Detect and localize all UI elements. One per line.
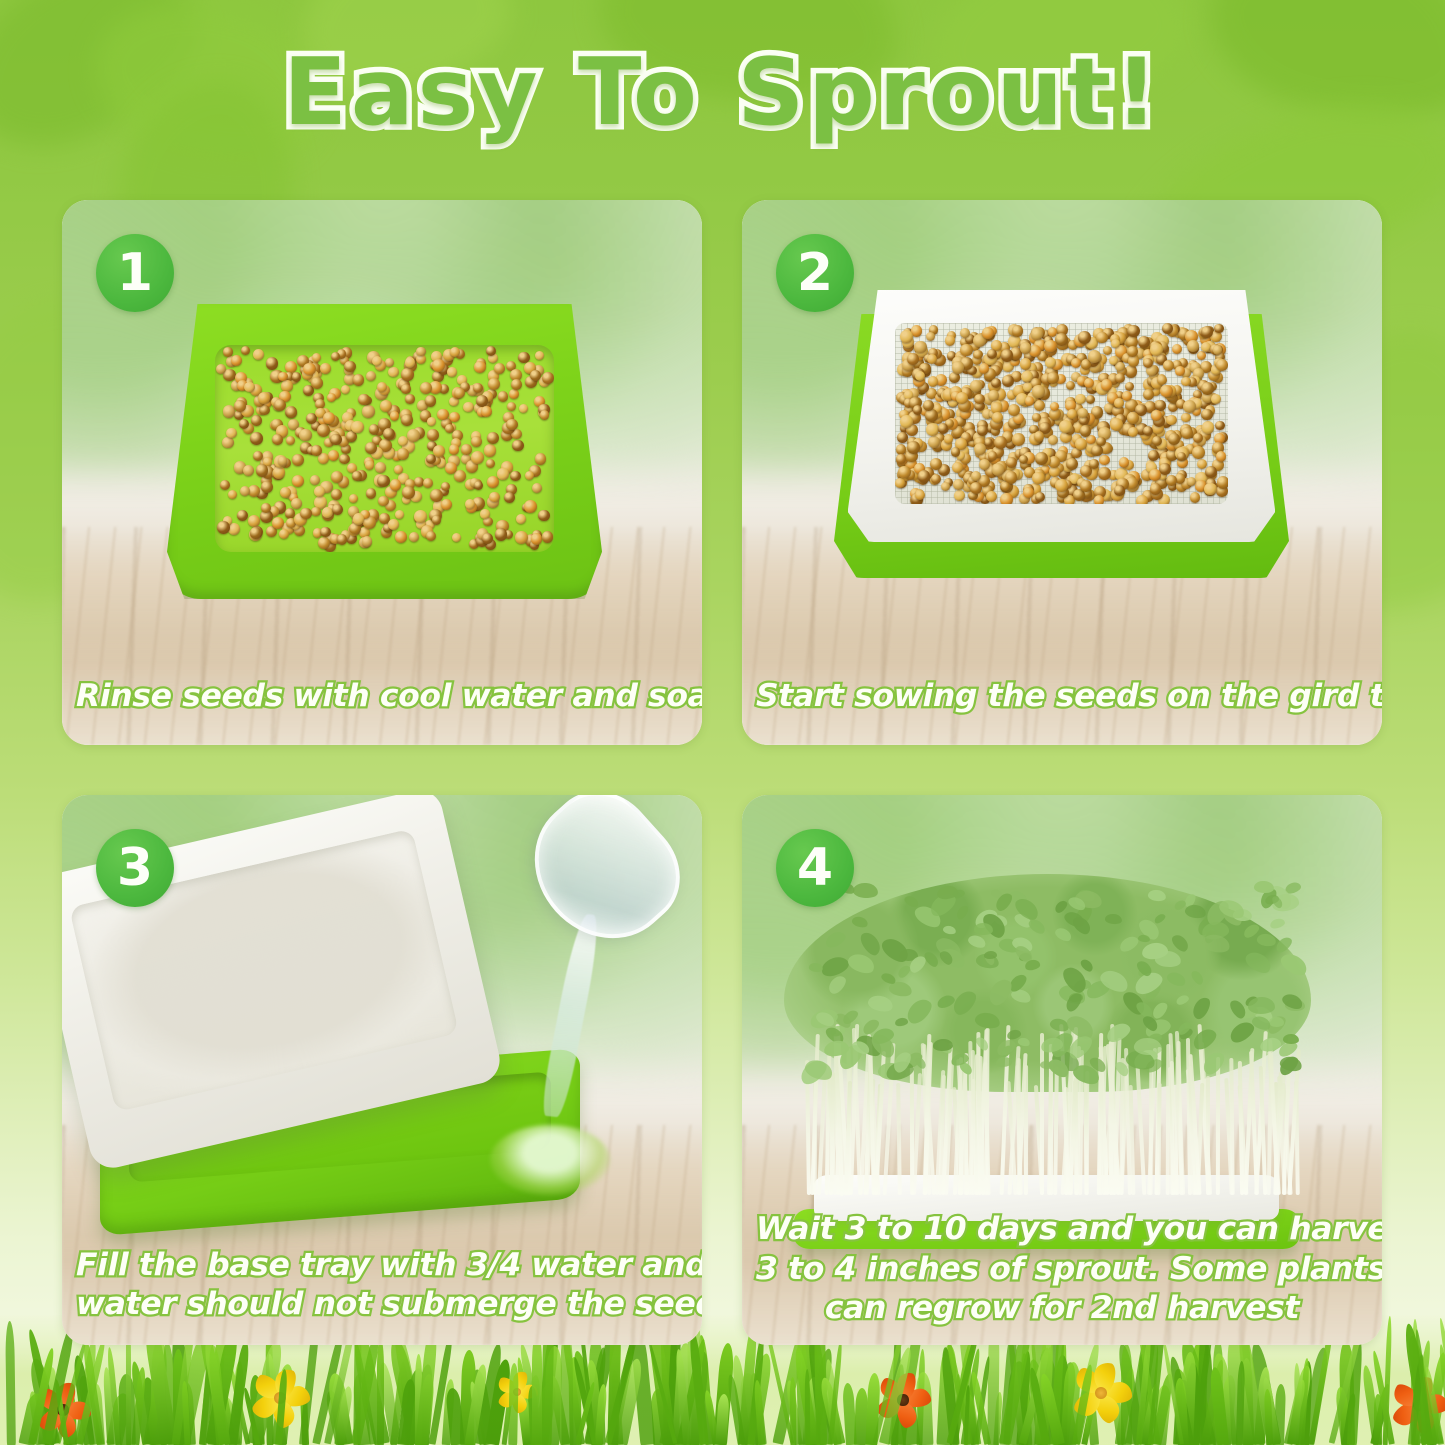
step-card-1: 1 Rinse seeds with cool water and soak xyxy=(62,200,702,745)
seed xyxy=(312,353,321,362)
seed xyxy=(405,357,415,367)
seed xyxy=(484,444,497,457)
seed xyxy=(445,462,457,474)
caption-line: Fill the base tray with 3/4 water and th… xyxy=(76,1246,688,1286)
seed xyxy=(450,347,460,357)
seed xyxy=(286,407,297,418)
seed xyxy=(900,330,913,343)
seed xyxy=(409,532,420,543)
seed xyxy=(504,492,515,503)
seed xyxy=(454,470,466,482)
seed xyxy=(377,475,389,487)
seed xyxy=(328,450,339,461)
sprout-stem xyxy=(1083,1082,1088,1195)
seed xyxy=(542,531,554,543)
seed xyxy=(538,510,549,521)
seed xyxy=(299,429,312,442)
seed xyxy=(278,372,287,381)
seed xyxy=(311,377,323,389)
seed xyxy=(1159,463,1171,475)
seed xyxy=(944,434,954,444)
sprout-leaf xyxy=(1283,1033,1300,1044)
seed xyxy=(915,490,925,500)
seed xyxy=(331,489,342,500)
seed xyxy=(1128,355,1140,367)
seed xyxy=(498,391,508,401)
seed xyxy=(977,425,988,436)
seed xyxy=(535,453,547,465)
seed xyxy=(402,486,414,498)
seed xyxy=(1181,413,1191,423)
seed xyxy=(1136,495,1148,504)
sprout-stem xyxy=(1024,1065,1028,1195)
seed xyxy=(979,363,989,373)
seed xyxy=(973,350,982,359)
seed xyxy=(1066,381,1075,390)
grass-blade xyxy=(377,1338,384,1445)
seed xyxy=(951,447,960,456)
seed xyxy=(1181,427,1193,439)
seed xyxy=(1078,331,1091,344)
seed xyxy=(535,351,544,360)
seed xyxy=(395,510,404,519)
seed xyxy=(447,367,457,377)
white-grid-tray xyxy=(834,290,1289,590)
seed xyxy=(285,361,297,373)
seed xyxy=(494,363,505,374)
grass-blade xyxy=(804,1368,809,1445)
seed xyxy=(497,468,508,479)
seed xyxy=(486,346,497,357)
seed xyxy=(1019,455,1028,464)
seed xyxy=(1035,452,1048,465)
seed xyxy=(426,454,436,464)
microgreens-cluster xyxy=(790,880,1305,1195)
seed xyxy=(926,332,935,341)
seed xyxy=(913,405,922,414)
seed xyxy=(512,440,524,452)
seed xyxy=(240,486,250,496)
seed xyxy=(352,471,361,480)
sprout-stem xyxy=(1215,1057,1219,1195)
seed xyxy=(1025,396,1034,405)
step-caption-1: Rinse seeds with cool water and soak xyxy=(62,677,702,717)
seed xyxy=(279,529,290,540)
seed xyxy=(954,490,965,501)
seed xyxy=(988,451,997,460)
seed xyxy=(405,394,414,403)
seed xyxy=(278,456,287,465)
seed xyxy=(1127,325,1139,337)
seed xyxy=(281,380,293,392)
seed xyxy=(449,444,459,454)
seed xyxy=(488,378,500,390)
seed xyxy=(970,482,982,494)
seed xyxy=(471,436,482,447)
grass-blade xyxy=(561,1330,574,1445)
sprout-stem xyxy=(1206,1076,1210,1195)
seed xyxy=(461,444,471,454)
sprout-leaf xyxy=(1269,917,1286,930)
seed xyxy=(273,466,286,479)
seed xyxy=(974,443,986,455)
seed xyxy=(1080,480,1092,492)
seed xyxy=(362,405,375,418)
seed xyxy=(952,462,963,473)
seed xyxy=(1035,492,1045,502)
seed xyxy=(1211,394,1221,404)
seed xyxy=(441,482,450,491)
seed xyxy=(377,382,387,392)
seed xyxy=(261,481,273,493)
seed xyxy=(928,376,939,387)
seed xyxy=(1099,455,1110,466)
seed xyxy=(362,536,372,546)
seed xyxy=(256,464,268,476)
seed xyxy=(495,528,508,541)
step-card-3: 3 Fill the base tray with 3/4 water and … xyxy=(62,795,702,1345)
seed xyxy=(507,402,516,411)
seed xyxy=(923,400,934,411)
step-badge-3: 3 xyxy=(96,829,174,907)
seed xyxy=(480,509,490,519)
seed xyxy=(925,409,938,422)
seed xyxy=(1128,427,1138,437)
seed xyxy=(895,478,905,488)
sprout-stem xyxy=(910,1066,914,1195)
sprout-leaf xyxy=(996,1056,1012,1067)
seed xyxy=(397,448,409,460)
seed xyxy=(1175,366,1184,375)
seed xyxy=(237,510,248,521)
seed xyxy=(332,504,343,515)
seed xyxy=(1091,445,1102,456)
seed xyxy=(1125,382,1135,392)
seed xyxy=(987,349,997,359)
seed xyxy=(390,479,401,490)
seed xyxy=(532,483,542,493)
seed xyxy=(1045,357,1056,368)
seed xyxy=(1096,332,1108,344)
seed xyxy=(310,475,321,486)
seed xyxy=(272,434,283,445)
seed xyxy=(1023,487,1034,498)
seed xyxy=(292,454,304,466)
tray-white-insert xyxy=(848,290,1276,542)
seed xyxy=(1150,483,1161,494)
seed xyxy=(1148,450,1160,462)
seed xyxy=(487,432,499,444)
seed xyxy=(427,417,436,426)
seed xyxy=(1122,391,1131,400)
seed xyxy=(1162,323,1173,334)
seed xyxy=(234,400,246,412)
seed xyxy=(486,459,495,468)
seed xyxy=(425,395,436,406)
seed xyxy=(524,500,537,513)
seed xyxy=(353,374,364,385)
seed xyxy=(266,357,278,369)
seed xyxy=(1187,340,1199,352)
seed xyxy=(907,441,920,454)
step-caption-2: Start sowing the seeds on the gird tray xyxy=(742,677,1382,717)
caption-line: Start sowing the seeds on the gird tray xyxy=(756,677,1368,717)
seed xyxy=(907,353,919,365)
seed xyxy=(401,414,413,426)
seed xyxy=(1098,467,1111,480)
seed xyxy=(1204,483,1216,495)
sprout-stem xyxy=(1040,1033,1044,1195)
seed xyxy=(327,393,336,402)
seed xyxy=(228,490,237,499)
seed xyxy=(519,404,528,413)
seed xyxy=(931,474,941,484)
seed xyxy=(253,349,264,360)
seed xyxy=(1075,394,1086,405)
seed xyxy=(463,402,473,412)
seed xyxy=(489,492,499,502)
seed xyxy=(222,437,233,448)
seed xyxy=(1032,385,1044,397)
seed xyxy=(430,489,443,502)
grass-blade xyxy=(5,1321,16,1445)
seed xyxy=(300,508,311,519)
seed xyxy=(1050,402,1059,411)
seed xyxy=(398,436,408,446)
seed xyxy=(1020,358,1032,370)
seed xyxy=(531,533,542,544)
seed xyxy=(465,499,475,509)
seed xyxy=(1213,345,1222,354)
seed xyxy=(1172,344,1182,354)
seed xyxy=(339,454,350,465)
seed xyxy=(1166,475,1177,486)
seed xyxy=(1157,375,1167,385)
seed xyxy=(1187,477,1196,486)
seed xyxy=(1160,385,1173,398)
sprout-stem xyxy=(1156,1083,1161,1195)
seed xyxy=(1034,431,1045,442)
seed xyxy=(938,423,948,433)
seed xyxy=(274,399,287,412)
seed xyxy=(241,346,250,355)
seed xyxy=(217,521,230,534)
seed xyxy=(1201,382,1214,395)
seed xyxy=(353,513,365,525)
grid-mesh xyxy=(895,323,1229,504)
seed xyxy=(474,361,486,373)
seed xyxy=(1216,359,1228,371)
seed-cluster xyxy=(215,345,554,552)
seed xyxy=(1183,400,1196,413)
seed xyxy=(344,361,356,373)
seed xyxy=(897,432,908,443)
seed xyxy=(311,507,321,517)
seed xyxy=(223,405,235,417)
seed xyxy=(244,382,254,392)
seed xyxy=(1114,485,1124,495)
seed xyxy=(1023,382,1033,392)
seed xyxy=(317,424,330,437)
tray-well xyxy=(215,345,554,552)
seed xyxy=(394,465,403,474)
seed xyxy=(1012,325,1023,336)
seed xyxy=(272,517,284,529)
seed xyxy=(1066,458,1078,470)
seed xyxy=(220,480,230,490)
infographic-page: Easy To Sprout! 1 Rinse seeds with cool … xyxy=(0,0,1445,1445)
seed xyxy=(1202,421,1215,434)
step-card-2: 2 Start sowing the seeds on the gird tra… xyxy=(742,200,1382,745)
seed xyxy=(986,491,997,502)
seed xyxy=(1149,469,1161,481)
seed xyxy=(941,482,950,491)
page-title: Easy To Sprout! xyxy=(283,38,1161,146)
seed xyxy=(1080,425,1091,436)
seed xyxy=(1021,371,1033,383)
seed xyxy=(378,496,389,507)
seed xyxy=(1059,420,1072,433)
seed xyxy=(1215,421,1224,430)
seed xyxy=(286,436,295,445)
seed xyxy=(1055,479,1068,492)
seed xyxy=(1096,437,1106,447)
seed xyxy=(243,465,254,476)
seed xyxy=(1110,418,1123,431)
step-badge-1: 1 xyxy=(96,234,174,312)
seed xyxy=(542,372,554,384)
seed xyxy=(1032,472,1044,484)
seed xyxy=(471,451,484,464)
steps-grid: 1 Rinse seeds with cool water and soak 2… xyxy=(62,200,1382,1345)
sprout-stem xyxy=(1073,1078,1077,1195)
grass-blade xyxy=(508,1363,518,1445)
seed xyxy=(426,531,436,541)
seed xyxy=(1075,438,1087,450)
seed xyxy=(914,341,927,354)
caption-line: 3 to 4 inches of sprout. Some plants xyxy=(756,1250,1368,1290)
seed xyxy=(388,519,399,530)
seed xyxy=(1044,340,1056,352)
seed xyxy=(248,515,260,527)
step-caption-4: Wait 3 to 10 days and you can harvest 3 … xyxy=(742,1210,1382,1329)
seed xyxy=(311,445,321,455)
step-badge-2: 2 xyxy=(776,234,854,312)
seed xyxy=(366,371,376,381)
seed xyxy=(423,478,433,488)
seed xyxy=(1217,476,1229,488)
green-soak-tray xyxy=(167,304,602,599)
page-title-container: Easy To Sprout! xyxy=(0,38,1445,146)
seed xyxy=(1216,451,1227,462)
step-badge-4: 4 xyxy=(776,829,854,907)
seed xyxy=(407,429,420,442)
seed xyxy=(1197,351,1206,360)
seed xyxy=(511,379,523,391)
seed xyxy=(351,421,363,433)
seed xyxy=(432,359,445,372)
seed xyxy=(1103,346,1112,355)
seed xyxy=(540,410,549,419)
seed xyxy=(525,471,535,481)
sprout-stem xyxy=(1259,1066,1268,1195)
seed xyxy=(516,514,526,524)
seed xyxy=(331,471,343,483)
sprout-leaf xyxy=(933,1039,953,1051)
seed-cluster xyxy=(895,323,1229,504)
seed xyxy=(420,382,432,394)
seed xyxy=(1001,349,1013,361)
seed xyxy=(341,385,350,394)
seed xyxy=(250,527,261,538)
seed xyxy=(365,460,375,470)
seed xyxy=(1000,493,1013,504)
seed xyxy=(390,411,400,421)
seed xyxy=(358,394,369,405)
grass-blade xyxy=(532,1333,543,1445)
seed xyxy=(320,527,330,537)
seed xyxy=(401,384,411,394)
seed xyxy=(945,335,955,345)
seed xyxy=(1150,343,1163,356)
seed xyxy=(454,388,465,399)
seed xyxy=(388,367,398,377)
seed xyxy=(1163,360,1174,371)
caption-line: Rinse seeds with cool water and soak xyxy=(76,677,688,717)
seed xyxy=(970,380,982,392)
seed xyxy=(223,347,233,357)
seed xyxy=(372,356,382,366)
seed xyxy=(960,344,973,357)
seed xyxy=(1214,324,1224,334)
seed xyxy=(337,534,348,545)
sprout-stem xyxy=(896,1083,902,1195)
seed xyxy=(1127,412,1139,424)
seed xyxy=(896,454,906,464)
seed xyxy=(216,364,226,374)
seed xyxy=(375,462,386,473)
seed xyxy=(1086,395,1095,404)
seed xyxy=(1020,342,1031,353)
seed xyxy=(427,429,439,441)
seed xyxy=(1094,495,1105,504)
seed xyxy=(292,372,302,382)
seed xyxy=(231,355,242,366)
seed xyxy=(1119,457,1130,468)
seed xyxy=(1012,433,1025,446)
seed xyxy=(349,494,358,503)
seed xyxy=(1048,435,1058,445)
seed xyxy=(898,466,910,478)
seed xyxy=(474,481,483,490)
seed xyxy=(1181,377,1190,386)
seed xyxy=(1115,373,1125,383)
sprout-leaf xyxy=(852,882,879,900)
seed xyxy=(452,533,461,542)
seed xyxy=(509,389,519,399)
seed xyxy=(952,361,965,374)
glass-icon xyxy=(506,795,702,966)
water-splash xyxy=(490,1125,610,1195)
seed xyxy=(366,488,377,499)
seed xyxy=(1166,415,1176,425)
seed xyxy=(395,531,407,543)
seed xyxy=(250,432,263,445)
seed xyxy=(226,428,237,439)
seed xyxy=(1143,358,1153,368)
seed xyxy=(383,428,395,440)
seed xyxy=(432,515,441,524)
